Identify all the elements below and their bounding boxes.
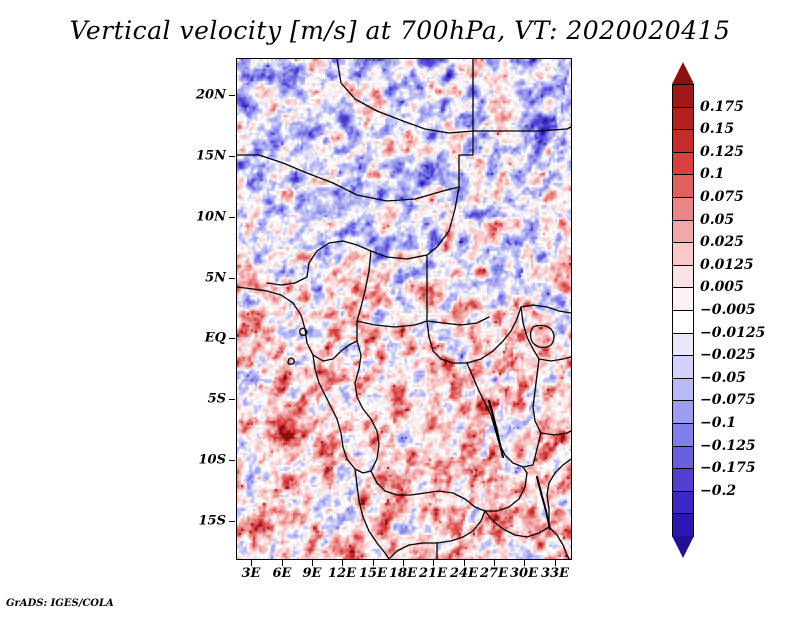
colorbar-cell xyxy=(672,174,694,198)
y-tick-mark xyxy=(229,521,235,522)
y-tick-mark xyxy=(229,156,235,157)
colorbar-cell xyxy=(672,287,694,311)
colorbar-cell xyxy=(672,468,694,492)
colorbar-tick-label: 0.175 xyxy=(700,99,744,115)
colorbar-tick-label: 0.0125 xyxy=(700,257,754,273)
colorbar-cell xyxy=(672,378,694,402)
colorbar-cell xyxy=(672,129,694,153)
colorbar-cell xyxy=(672,423,694,447)
colorbar-cell xyxy=(672,242,694,266)
y-tick-label: 20N xyxy=(166,88,226,103)
colorbar-cell xyxy=(672,355,694,379)
y-tick-label: 10S xyxy=(166,453,226,468)
y-tick-label: 5N xyxy=(166,271,226,286)
colorbar-cell xyxy=(672,265,694,289)
colorbar-tick-label: 0.1 xyxy=(700,166,724,182)
colorbar-cell xyxy=(672,491,694,515)
colorbar-cell xyxy=(672,400,694,424)
colorbar-tick-label: −0.2 xyxy=(700,483,736,499)
colorbar-cell xyxy=(672,513,694,537)
colorbar-over-arrow xyxy=(672,62,694,84)
colorbar-tick-label: 0.075 xyxy=(700,189,744,205)
y-tick-label: EQ xyxy=(166,331,226,346)
x-tick-label: 15E xyxy=(359,566,387,581)
x-tick-label: 30E xyxy=(510,566,538,581)
colorbar-tick-label: −0.005 xyxy=(700,302,756,318)
colorbar-cell xyxy=(672,220,694,244)
y-tick-label: 15S xyxy=(166,514,226,529)
y-tick-mark xyxy=(229,399,235,400)
colorbar-tick-label: −0.025 xyxy=(700,347,756,363)
colorbar-tick-label: 0.125 xyxy=(700,144,744,160)
x-tick-label: 6E xyxy=(273,566,292,581)
y-tick-label: 5S xyxy=(166,392,226,407)
colorbar-tick-label: −0.05 xyxy=(700,370,746,386)
colorbar-cell xyxy=(672,310,694,334)
colorbar-tick-label: 0.15 xyxy=(700,121,734,137)
colorbar-tick-label: −0.175 xyxy=(700,460,756,476)
colorbar-under-arrow xyxy=(672,536,694,558)
colorbar-cell xyxy=(672,84,694,108)
page-title: Vertical velocity [m/s] at 700hPa, VT: 2… xyxy=(0,16,800,45)
x-tick-label: 27E xyxy=(480,566,508,581)
colorbar-cell xyxy=(672,197,694,221)
x-tick-label: 24E xyxy=(450,566,478,581)
colorbar-tick-label: −0.125 xyxy=(700,438,756,454)
colorbar-tick-label: −0.1 xyxy=(700,415,736,431)
colorbar-tick-label: 0.005 xyxy=(700,279,744,295)
y-tick-mark xyxy=(229,278,235,279)
colorbar-tick-label: −0.075 xyxy=(700,392,756,408)
colorbar-tick-label: −0.0125 xyxy=(700,325,765,341)
y-tick-label: 10N xyxy=(166,210,226,225)
y-tick-label: 15N xyxy=(166,149,226,164)
map-plot-panel xyxy=(236,58,572,560)
colorbar xyxy=(672,62,694,558)
y-tick-mark xyxy=(229,460,235,461)
y-tick-mark xyxy=(229,338,235,339)
colorbar-cell xyxy=(672,152,694,176)
y-tick-mark xyxy=(229,217,235,218)
x-tick-label: 18E xyxy=(389,566,417,581)
x-tick-label: 33E xyxy=(541,566,569,581)
x-tick-label: 9E xyxy=(303,566,322,581)
colorbar-tick-label: 0.025 xyxy=(700,234,744,250)
colorbar-tick-label: 0.05 xyxy=(700,212,734,228)
colorbar-cell xyxy=(672,107,694,131)
x-tick-label: 3E xyxy=(242,566,261,581)
y-tick-mark xyxy=(229,95,235,96)
x-tick-label: 21E xyxy=(419,566,447,581)
country-borders-overlay xyxy=(237,59,571,559)
colorbar-cell xyxy=(672,333,694,357)
footer-credit: GrADS: IGES/COLA xyxy=(6,598,114,609)
colorbar-cell xyxy=(672,446,694,470)
x-tick-label: 12E xyxy=(328,566,356,581)
